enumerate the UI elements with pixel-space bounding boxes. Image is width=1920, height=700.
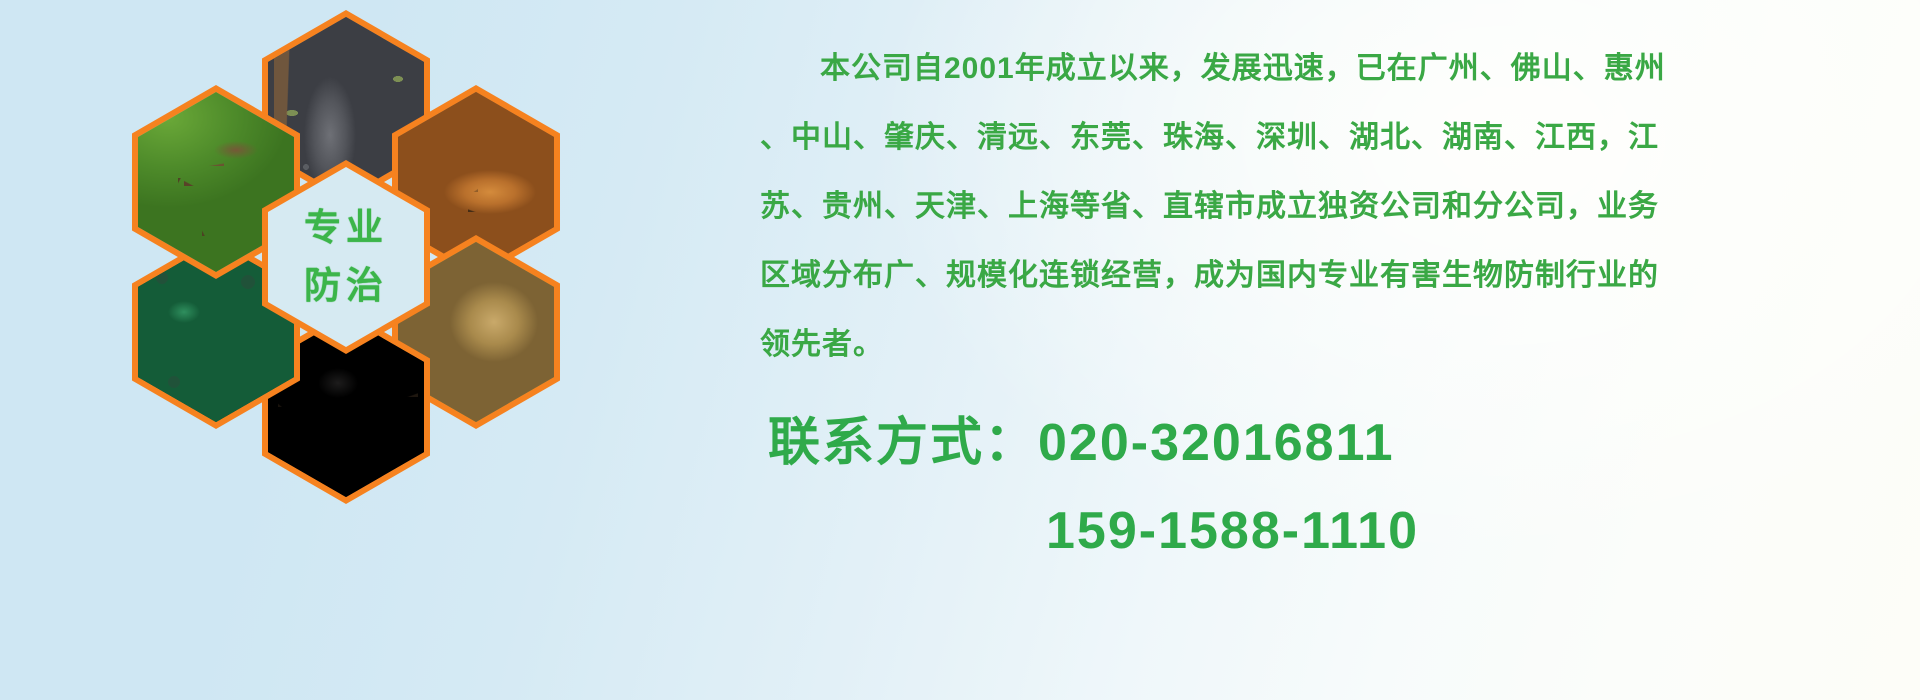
slogan-line-1: 专业 [304,206,388,250]
description-line-5: 领先者。 [760,310,1900,379]
contact-phone-mobile[interactable]: 159-1588-1110 [768,501,1898,561]
hex-cell-slogan-frame: 专业 防治 [268,167,424,347]
description-line-3: 苏、贵州、天津、上海等省、直辖市成立独资公司和分公司，业务 [760,172,1900,241]
slogan-text: 专业 防治 [304,206,388,307]
honeycomb-gallery: 专业 防治 [86,0,606,572]
slogan-line-2: 防治 [304,264,388,308]
contact-block: 联系方式：020-32016811 159-1588-1110 [768,400,1898,561]
description-line-4: 区域分布广、规模化连锁经营，成为国内专业有害生物防制行业的 [760,241,1900,310]
company-description: 本公司自2001年成立以来，发展迅速，已在广州、佛山、惠州 、中山、肇庆、清远、… [760,34,1900,379]
banner-stage: 专业 防治 本公司自2001年成立以来，发展迅速，已在广州、佛山、惠州 、中山、… [0,0,1920,700]
contact-phone-primary[interactable]: 联系方式：020-32016811 [768,400,1898,475]
description-line-2: 、中山、肇庆、清远、东莞、珠海、深圳、湖北、湖南、江西，江 [760,103,1900,172]
description-line-1: 本公司自2001年成立以来，发展迅速，已在广州、佛山、惠州 [760,34,1900,103]
